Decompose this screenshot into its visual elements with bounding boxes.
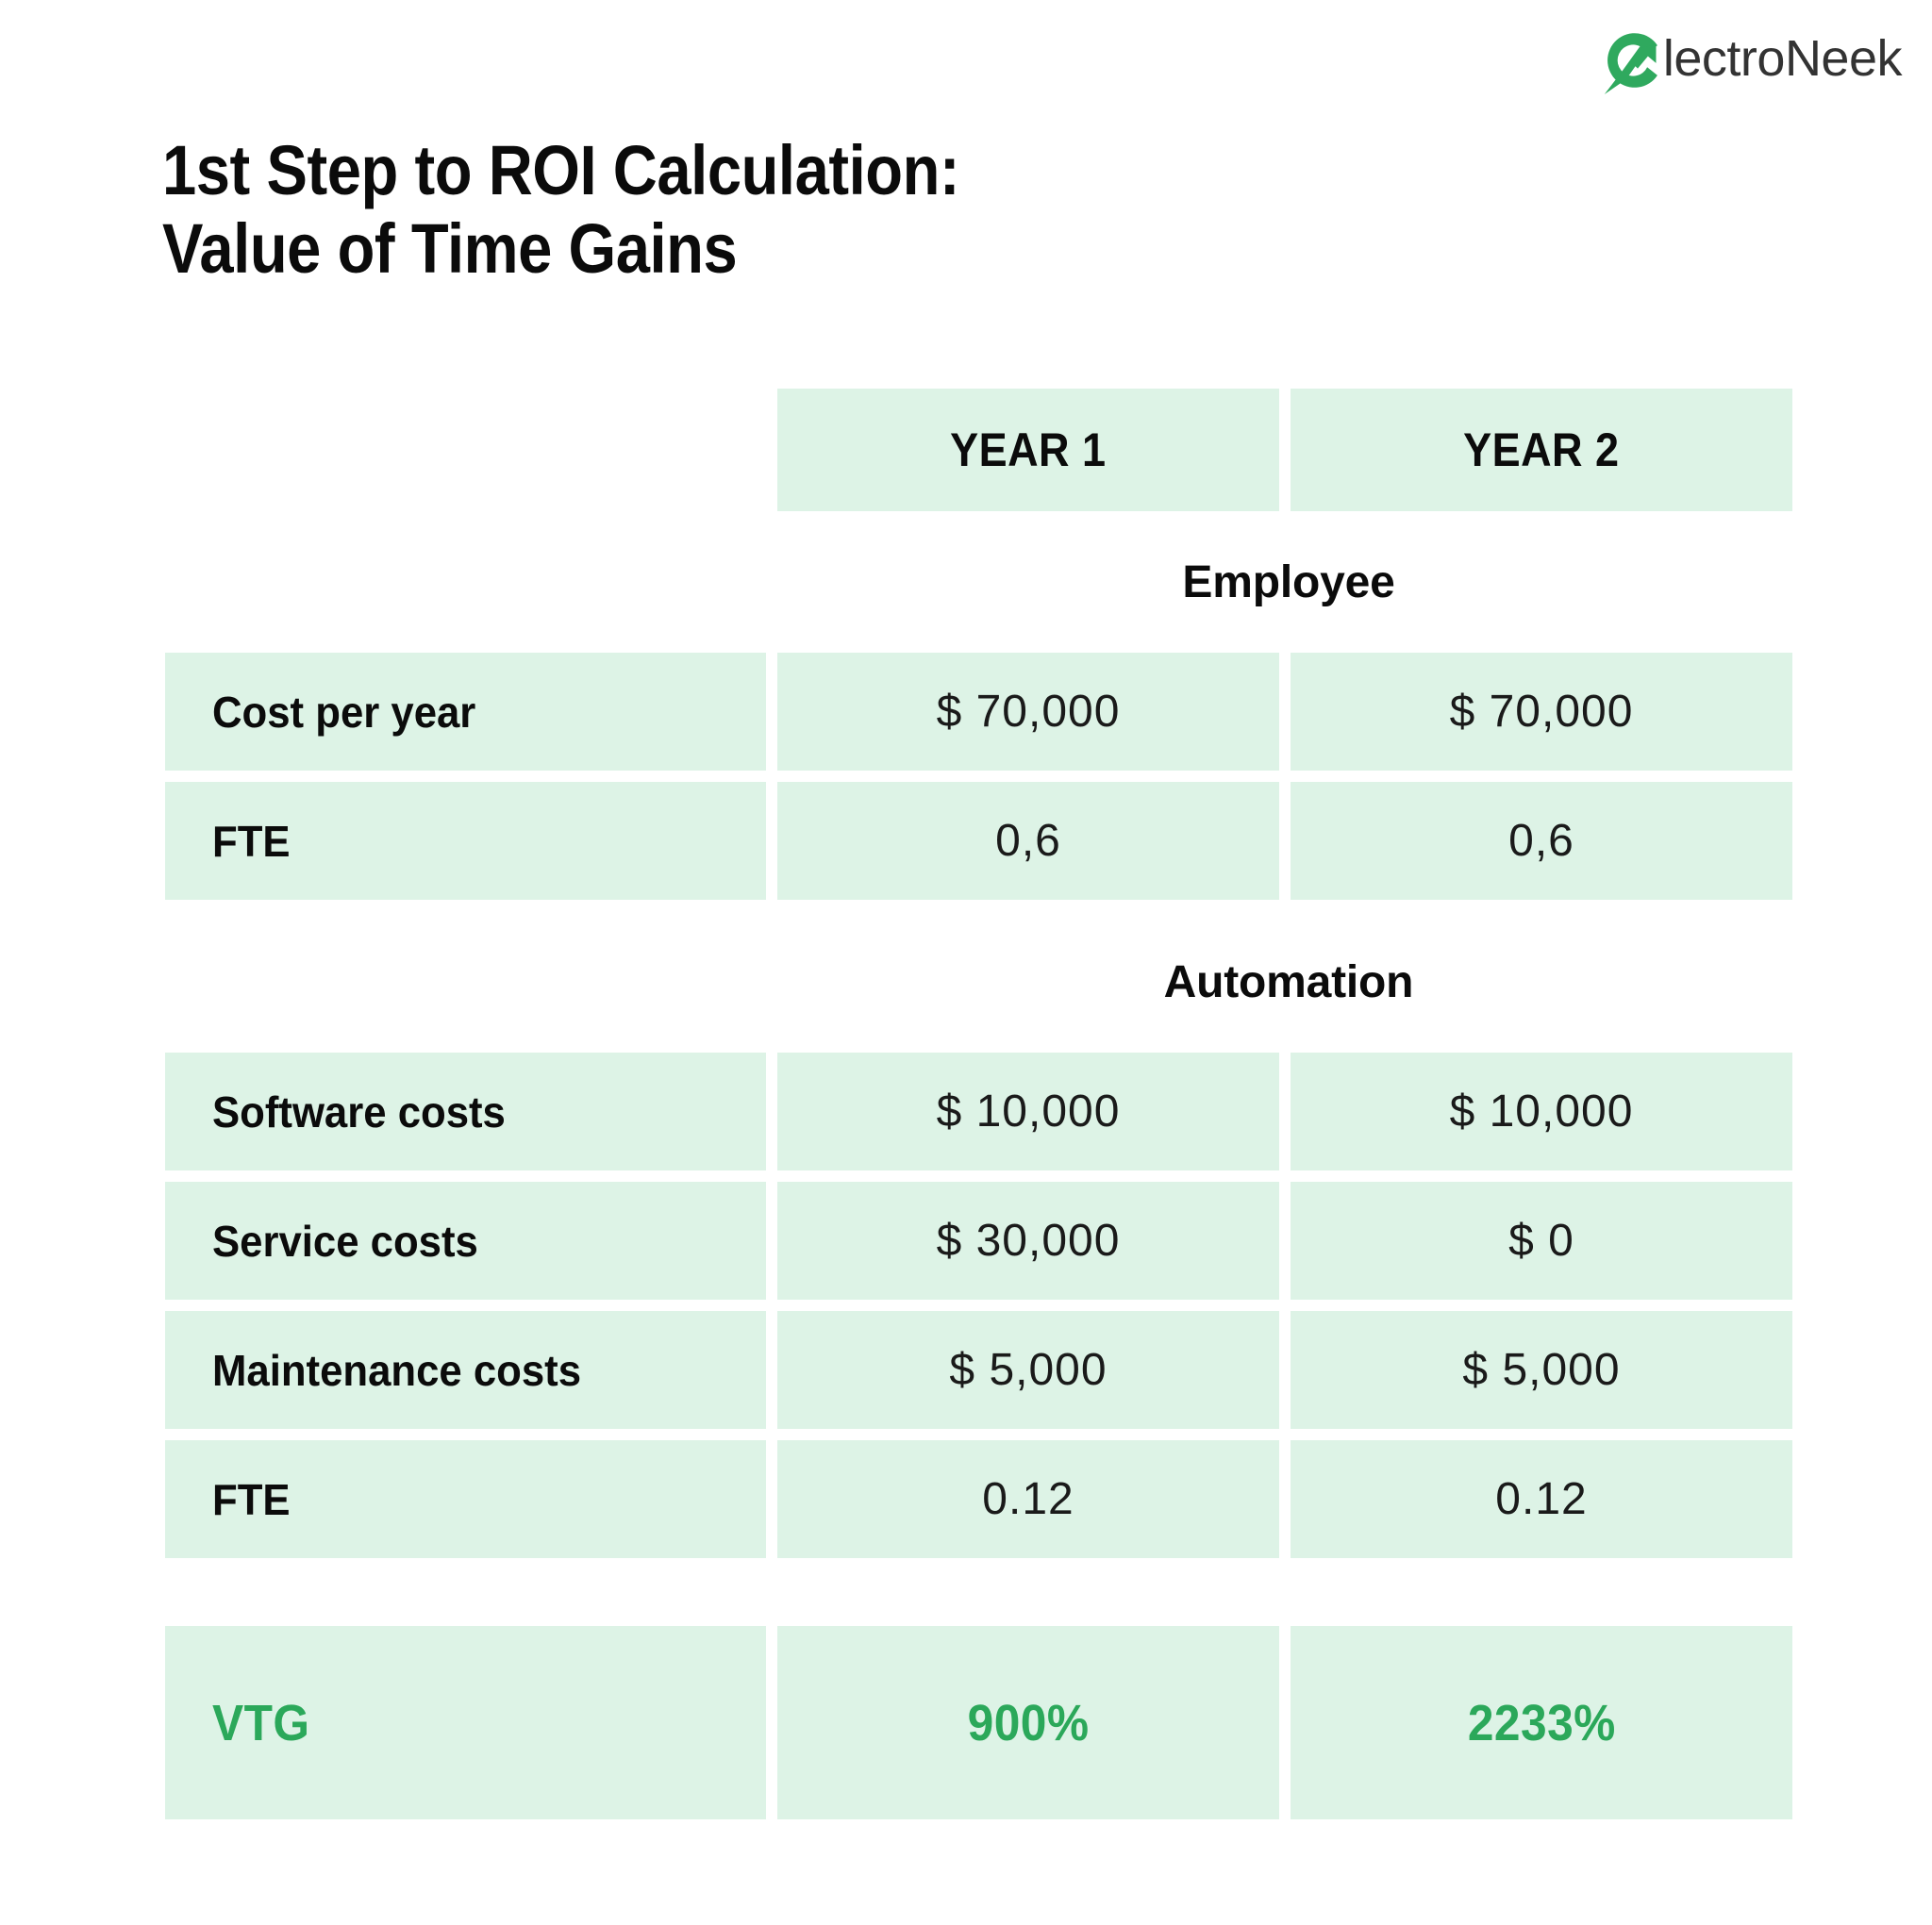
column-gap	[766, 1182, 777, 1300]
total-value: 900%	[968, 1694, 1090, 1752]
cell-value: 0.12	[982, 1473, 1074, 1525]
row-value-year2: $ 0	[1291, 1182, 1792, 1300]
row-label-cell: Cost per year	[165, 653, 766, 771]
table-total-row: VTG 900% 2233%	[165, 1626, 1800, 1819]
row-label-cell: Maintenance costs	[165, 1311, 766, 1429]
row-value-year1: $ 5,000	[777, 1311, 1279, 1429]
row-value-year2: 0,6	[1291, 782, 1792, 900]
column-gap	[1279, 389, 1291, 511]
electroneek-logo-icon	[1599, 26, 1667, 94]
row-label: Cost per year	[212, 687, 475, 738]
slide-root: lectroNeek 1st Step to ROI Calculation: …	[0, 0, 1932, 1925]
section-label-automation: Automation	[1164, 956, 1414, 1008]
header-cell-year1: YEAR 1	[777, 389, 1279, 511]
row-label: Maintenance costs	[212, 1345, 581, 1396]
table-row: FTE 0.12 0.12	[165, 1440, 1800, 1558]
section-label-wrap: Employee	[777, 556, 1800, 608]
total-label: VTG	[212, 1694, 310, 1752]
row-label-cell: FTE	[165, 1440, 766, 1558]
row-label: Software costs	[212, 1087, 506, 1137]
brand-logo: lectroNeek	[1599, 26, 1902, 94]
row-value-year1: $ 10,000	[777, 1053, 1279, 1170]
column-gap	[766, 653, 777, 771]
section-band-employee: Employee	[165, 511, 1800, 653]
column-gap	[766, 782, 777, 900]
table-header-row: YEAR 1 YEAR 2	[165, 389, 1800, 511]
column-gap	[1279, 1440, 1291, 1558]
cell-value: $ 0	[1508, 1215, 1574, 1267]
cell-value: $ 5,000	[949, 1344, 1107, 1396]
total-value-year1: 900%	[777, 1626, 1279, 1819]
column-gap	[1279, 782, 1291, 900]
row-label: FTE	[212, 816, 291, 867]
table-row: Maintenance costs $ 5,000 $ 5,000	[165, 1311, 1800, 1429]
total-value-year2: 2233%	[1291, 1626, 1792, 1819]
roi-table: YEAR 1 YEAR 2 Employee Cost per year $ 7…	[165, 389, 1800, 1819]
cell-value: 0.12	[1495, 1473, 1587, 1525]
column-gap	[766, 1626, 777, 1819]
section-label-wrap: Automation	[777, 956, 1800, 1008]
row-value-year1: 0,6	[777, 782, 1279, 900]
cell-value: $ 30,000	[937, 1215, 1121, 1267]
column-gap	[766, 1053, 777, 1170]
cell-value: $ 70,000	[1450, 686, 1634, 738]
total-label-cell: VTG	[165, 1626, 766, 1819]
column-gap	[1279, 1182, 1291, 1300]
column-gap	[766, 1440, 777, 1558]
column-gap	[1279, 1053, 1291, 1170]
row-label-cell: FTE	[165, 782, 766, 900]
header-label-year2: YEAR 2	[1463, 423, 1619, 477]
row-label: FTE	[212, 1474, 291, 1525]
section-band-automation: Automation	[165, 911, 1800, 1053]
cell-value: 0,6	[995, 815, 1061, 867]
section-label-employee: Employee	[1182, 556, 1394, 608]
column-gap	[1279, 1626, 1291, 1819]
row-value-year2: $ 10,000	[1291, 1053, 1792, 1170]
table-row: Service costs $ 30,000 $ 0	[165, 1182, 1800, 1300]
cell-value: $ 10,000	[937, 1086, 1121, 1137]
column-gap	[1279, 1311, 1291, 1429]
row-value-year2: $ 70,000	[1291, 653, 1792, 771]
column-gap	[766, 1311, 777, 1429]
table-row: Software costs $ 10,000 $ 10,000	[165, 1053, 1800, 1170]
row-value-year1: $ 30,000	[777, 1182, 1279, 1300]
row-value-year2: $ 5,000	[1291, 1311, 1792, 1429]
row-value-year2: 0.12	[1291, 1440, 1792, 1558]
cell-value: 0,6	[1508, 815, 1574, 867]
column-gap	[766, 389, 777, 511]
row-value-year1: $ 70,000	[777, 653, 1279, 771]
row-label-cell: Service costs	[165, 1182, 766, 1300]
table-row: Cost per year $ 70,000 $ 70,000	[165, 653, 1800, 771]
row-value-year1: 0.12	[777, 1440, 1279, 1558]
page-title: 1st Step to ROI Calculation: Value of Ti…	[162, 132, 959, 289]
brand-name: lectroNeek	[1663, 33, 1902, 88]
cell-value: $ 70,000	[937, 686, 1121, 738]
row-label-cell: Software costs	[165, 1053, 766, 1170]
column-gap	[1279, 653, 1291, 771]
header-blank-cell	[165, 389, 766, 511]
cell-value: $ 5,000	[1462, 1344, 1620, 1396]
cell-value: $ 10,000	[1450, 1086, 1634, 1137]
total-value: 2233%	[1467, 1694, 1615, 1752]
header-label-year1: YEAR 1	[950, 423, 1106, 477]
row-label: Service costs	[212, 1216, 478, 1267]
header-cell-year2: YEAR 2	[1291, 389, 1792, 511]
table-row: FTE 0,6 0,6	[165, 782, 1800, 900]
